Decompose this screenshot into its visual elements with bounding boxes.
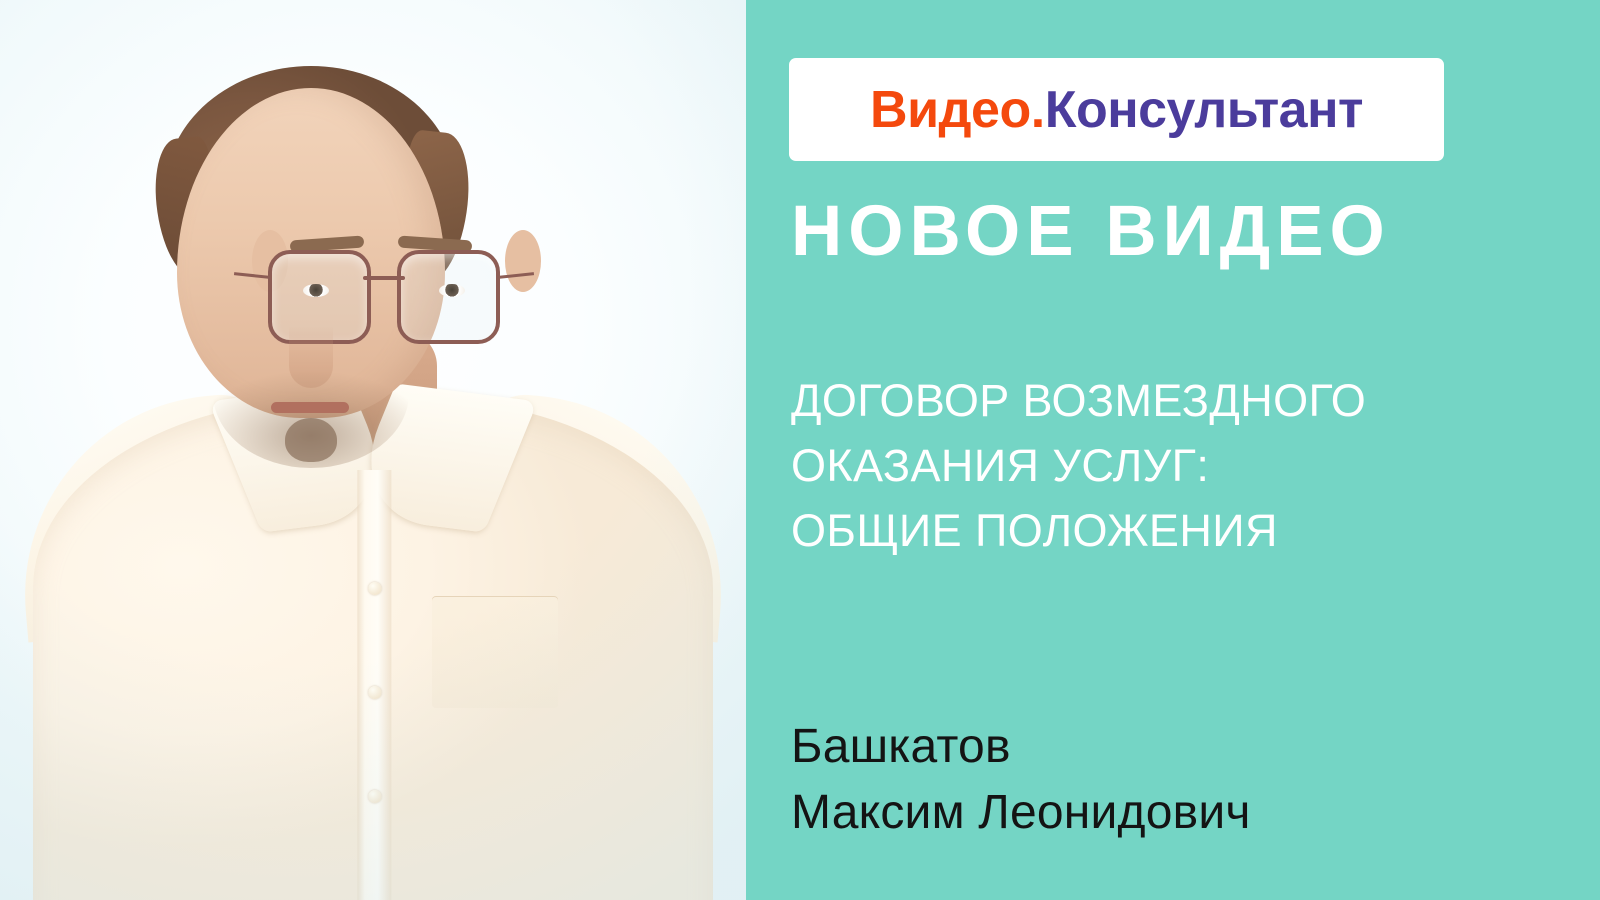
speaker-surname: Башкатов: [791, 714, 1251, 780]
video-title-line-1: ДОГОВОР ВОЗМЕЗДНОГО: [791, 369, 1581, 434]
brand-logo-secondary: Консультант: [1045, 81, 1363, 139]
glasses-lens-right: [397, 250, 500, 344]
shirt-placket: [357, 470, 391, 900]
goatee: [285, 418, 337, 462]
shirt-button: [368, 686, 381, 699]
mouth: [271, 402, 349, 413]
brand-logo: Видео.Консультант: [870, 84, 1363, 136]
brand-logo-card[interactable]: Видео.Консультант: [789, 58, 1444, 161]
shirt-chest-pocket: [432, 596, 558, 708]
video-title: ДОГОВОР ВОЗМЕЗДНОГО ОКАЗАНИЯ УСЛУГ: ОБЩИ…: [791, 369, 1581, 563]
presenter-figure: [0, 0, 746, 900]
eye-right: [439, 284, 465, 297]
shirt-button: [368, 790, 381, 803]
video-title-line-2: ОКАЗАНИЯ УСЛУГ:: [791, 434, 1581, 499]
info-panel: Видео.Консультант НОВОЕ ВИДЕО ДОГОВОР ВО…: [746, 0, 1600, 900]
presenter-photo: [0, 0, 746, 900]
ear-right: [505, 230, 541, 292]
speaker-name: Башкатов Максим Леонидович: [791, 714, 1251, 846]
eye-left: [303, 284, 329, 297]
brand-logo-primary: Видео: [870, 81, 1031, 139]
video-title-line-3: ОБЩИЕ ПОЛОЖЕНИЯ: [791, 499, 1581, 564]
glasses-bridge: [363, 276, 405, 280]
video-announcement-slide: Видео.Консультант НОВОЕ ВИДЕО ДОГОВОР ВО…: [0, 0, 1600, 900]
brand-logo-separator: .: [1031, 81, 1045, 139]
shirt-button: [368, 582, 381, 595]
speaker-given-name: Максим Леонидович: [791, 780, 1251, 846]
headline: НОВОЕ ВИДЕО: [791, 196, 1391, 267]
